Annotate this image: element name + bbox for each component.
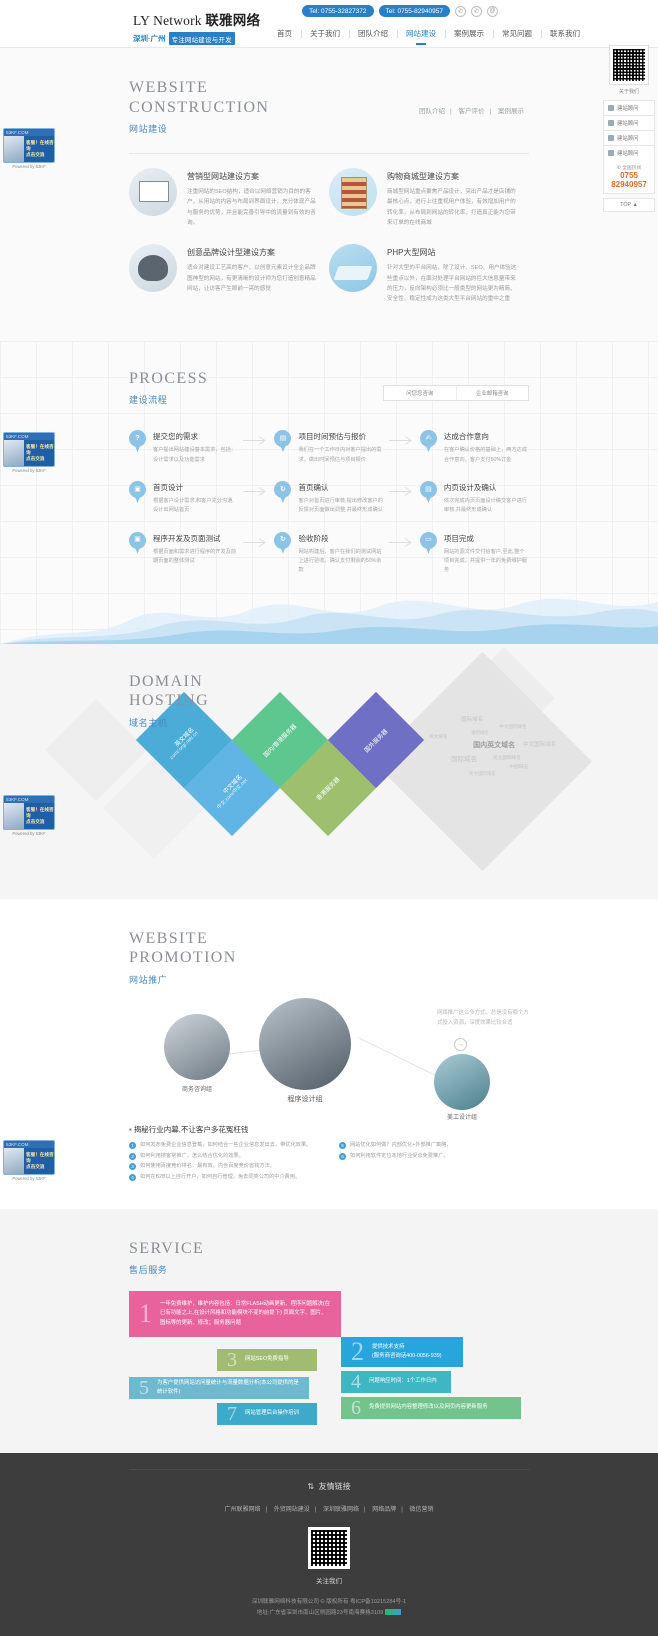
diamond-label: 香港服务器 bbox=[314, 774, 342, 802]
list-item: 1如何发布免费企业信息登载，如何结合一些企业信息发出去，带优化效果。 bbox=[129, 1142, 319, 1149]
nav-item-cases[interactable]: 案例展示 bbox=[445, 28, 493, 39]
step-desc: 我们在一个工作日内对客户提出的需求，做出时间预估与项目报价 bbox=[298, 446, 383, 465]
panel-item-label: 建站顾问 bbox=[617, 134, 639, 142]
nav-item-about[interactable]: 关于我们 bbox=[301, 28, 349, 39]
site-logo[interactable]: LY Network 联雅网络 深圳·广州 专注网站建设与开发 bbox=[133, 9, 273, 45]
nav-item-home[interactable]: 首页 bbox=[268, 28, 301, 39]
photo-programming bbox=[259, 998, 351, 1090]
section-website-construction: WEBSITE CONSTRUCTION 网站建设 团队介绍| 客户评价| 案例… bbox=[0, 48, 658, 341]
list-bullet: 5 bbox=[339, 1142, 346, 1149]
php-platform-icon bbox=[329, 244, 377, 292]
service-text: 提供技术支持 (服务商咨询话400-0056-939) bbox=[372, 1343, 442, 1362]
service-item-1[interactable]: 1 一年免费维护，维护内容包括：日常FLASH动画更新、程序问题解决(在已有功能… bbox=[129, 1291, 341, 1337]
service-item-3[interactable]: 3 网站SEO免费指导 bbox=[217, 1349, 317, 1371]
service-number: 5 bbox=[139, 1378, 149, 1398]
process-steps: ? 提交您的需求 客户提出网站建设基本需求，包括：设计需求以及功能需求 ▤ 项目… bbox=[129, 430, 529, 576]
chat-icon bbox=[608, 150, 614, 156]
logo-text: LY Network 联雅网络 bbox=[133, 9, 273, 29]
step-title: 项目时间预估与报价 bbox=[298, 431, 383, 442]
process-step: ? 提交您的需求 客户提出网站建设基本需求，包括：设计需求以及功能需求 bbox=[129, 430, 238, 465]
list-text: 如何利用搜客常推广，怎么结合优化的效果。 bbox=[140, 1153, 244, 1160]
footer-links-title-wrap: ⇅ 友情链接 bbox=[297, 1476, 360, 1494]
arrow-right-icon bbox=[384, 532, 420, 547]
footer-copyright: 深圳联雅网络科技有限公司 © 版权所有 粤ICP备10215284号-1 bbox=[0, 1597, 658, 1608]
service-item-6[interactable]: 6 免费提供网站内容整理修改以及网页内容更新服务 bbox=[341, 1397, 521, 1419]
footer-link-gz[interactable]: 广州联雅网络 bbox=[219, 1507, 265, 1513]
promotion-list-left: 1如何发布免费企业信息登载，如何结合一些企业信息发出去，带优化效果。 2如何利用… bbox=[129, 1142, 319, 1185]
wordcloud-main: 国内英文域名 bbox=[473, 740, 515, 750]
link-icon: ⇅ bbox=[307, 1482, 314, 1491]
arrow-right-icon bbox=[384, 481, 420, 496]
process-step: ▣ 程序开发及页面测试 根据页面和需求进行程序的开发及前期页面的整体测试 bbox=[129, 532, 238, 567]
chat-icon bbox=[608, 120, 614, 126]
service-number: 2 bbox=[351, 1339, 364, 1365]
list-text: 如何在B2B以上自行开户，如何自行管理，免去同类公司的中介费用。 bbox=[140, 1174, 300, 1181]
step-title: 验收阶段 bbox=[298, 533, 383, 544]
diamond-sublabel: 中文.com/中文.net bbox=[215, 776, 249, 810]
ad-powered-by: Powered by 53KF bbox=[3, 830, 55, 836]
service-item-2[interactable]: 2 提供技术支持 (服务商咨询话400-0056-939) bbox=[341, 1337, 463, 1367]
promotion-heading: WEBSITE PROMOTION 网站推广 bbox=[129, 929, 529, 986]
footer-address-line: 地址:广东省深圳市南山区桃园路23号南海赛格3109 bbox=[0, 1608, 658, 1619]
list-bullet: 2 bbox=[129, 1153, 136, 1160]
service-heading: SERVICE 售后服务 bbox=[129, 1239, 529, 1277]
panel-item-label: 建站顾问 bbox=[617, 149, 639, 157]
floating-ad-1[interactable]: 53KF.COM 客服！在线咨询 点击交流 Powered by 53KF bbox=[3, 128, 55, 169]
construction-card[interactable]: 营销型网站建设方案 注重网站的SEO结构，适合以网络营销为目的的客户，从用站的内… bbox=[129, 168, 329, 228]
service-item-5[interactable]: 5 为客户提供网站访问量统计与流量数据分析(本公司提供的是统计软件) bbox=[129, 1377, 309, 1399]
step-title: 项目完成 bbox=[444, 533, 529, 544]
card-desc: 针对大型的平台网站，除了设计、SEO、用户体验这些重点以外，在面对处理平台网站的… bbox=[387, 263, 521, 304]
diamond-hk-server[interactable]: 香港服务器 bbox=[280, 740, 376, 836]
service-text: 网站SEO免费指导 bbox=[245, 1355, 289, 1364]
avatar bbox=[4, 1148, 24, 1174]
photo-business-consult bbox=[164, 1014, 230, 1080]
footer-link-sz[interactable]: 深圳联雅网络 bbox=[318, 1507, 364, 1513]
palette-icon: ▣ bbox=[129, 481, 146, 503]
ad-line-1: 客服！在线咨询 bbox=[26, 444, 54, 456]
panel-hotline: ✆ 全国热线 0755 82940957 bbox=[603, 160, 655, 194]
photo-caption: 程序设计组 bbox=[260, 1094, 350, 1104]
nav-item-faq[interactable]: 常见问题 bbox=[493, 28, 541, 39]
construction-title-line1: WEBSITE bbox=[129, 78, 529, 98]
service-number: 7 bbox=[227, 1404, 237, 1424]
step-title: 提交您的需求 bbox=[153, 431, 238, 442]
card-title: 购物商城型建设方案 bbox=[387, 171, 521, 182]
beian-badge-icon bbox=[385, 1609, 401, 1615]
floating-ad-3[interactable]: 53KF.COM 客服！在线咨询 点击交流 Powered by 53KF bbox=[3, 795, 55, 836]
diamond-label: 中文域名 bbox=[214, 766, 249, 801]
service-text: 问题响应时间：1个工作日内 bbox=[369, 1377, 437, 1386]
footer-address: 地址:广东省深圳市南山区桃园路23号南海赛格3109 bbox=[257, 1610, 384, 1616]
card-title: 营销型网站建设方案 bbox=[187, 171, 321, 182]
question-mark-icon: ? bbox=[129, 430, 146, 452]
domain-subtitle: 域名主机 bbox=[129, 716, 529, 729]
step-desc: 网站构建后，客户在我们的测试网站上进行验收，确认支付剩余的50%余款 bbox=[298, 548, 383, 576]
weibo-icon[interactable]: @ bbox=[487, 6, 498, 17]
ad-powered-by: Powered by 53KF bbox=[3, 163, 55, 169]
logo-city: 深圳·广州 bbox=[133, 33, 166, 44]
list-bullet: 1 bbox=[129, 1142, 136, 1149]
section-process: PROCESS 建设流程 问您您咨询 企业邮箱咨询 ? 提交您的需求 客户提出网… bbox=[0, 341, 658, 644]
card-title: PHP大型网站 bbox=[387, 247, 521, 258]
photo-design bbox=[434, 1054, 490, 1110]
step-title: 达成合作意向 bbox=[444, 431, 529, 442]
ad-brand: 53KF.COM bbox=[4, 433, 54, 440]
step-title: 首页设计 bbox=[153, 482, 238, 493]
domain-heading: DOMAIN HOSTING 域名主机 bbox=[129, 672, 529, 729]
flag-icon: ▭ bbox=[420, 532, 437, 554]
construction-card[interactable]: 创意品牌设计型建设方案 适合对建设工艺高的客户，以创意元素设计全企品牌图神型的网… bbox=[129, 244, 329, 304]
phone-pill-2[interactable]: Tel: 0755-82940957 bbox=[379, 5, 450, 17]
section-website-promotion: WEBSITE PROMOTION 网站推广 商务咨询组 程序设计组 美工设计组… bbox=[0, 899, 658, 1209]
nav-item-construction[interactable]: 网站建设 bbox=[397, 28, 445, 39]
logo-text-cn: 联雅网络 bbox=[205, 13, 260, 28]
floating-ad-4[interactable]: 53KF.COM 客服！在线咨询 点击交流 Powered by 53KF bbox=[3, 1140, 55, 1181]
hotline-label: ✆ 全国热线 bbox=[608, 164, 650, 171]
logo-subtitle: 深圳·广州 专注网站建设与开发 bbox=[133, 32, 273, 45]
construction-subtitle: 网站建设 bbox=[129, 122, 529, 135]
header-contact: Tel: 0755-32827372 Tel: 0755-82940957 ✆ … bbox=[302, 5, 498, 17]
site-header: LY Network 联雅网络 深圳·广州 专注网站建设与开发 Tel: 075… bbox=[0, 0, 658, 48]
service-item-4[interactable]: 4 问题响应时间：1个工作日内 bbox=[341, 1371, 451, 1393]
promotion-list-right: 5网站优化如何做？内部优化+外部推广策略， 6如何利用软件定位本地行业受众免费推… bbox=[339, 1142, 529, 1185]
construction-card[interactable]: PHP大型网站 针对大型的平台网站，除了设计、SEO、用户体验这些重点以外，在面… bbox=[329, 244, 529, 304]
step-desc: 根据客户设计需求,和客户充分沟通,设计出网站首页 bbox=[153, 497, 238, 516]
ad-powered-by: Powered by 53KF bbox=[3, 467, 55, 473]
service-text: 为客户提供网站访问量统计与流量数据分析(本公司提供的是统计软件) bbox=[157, 1379, 299, 1398]
promotion-headline: 揭秘行业内幕,不让客户多花冤枉钱 bbox=[129, 1124, 529, 1135]
service-item-7[interactable]: 7 网站管理后台操作培训 bbox=[217, 1403, 317, 1425]
step-desc: 客户对首页进行审核,提出修改客户的反馈对页面做出调整,并最终形成确认 bbox=[298, 497, 383, 516]
process-step: ↻ 验收阶段 网站构建后，客户在我们的测试网站上进行验收，确认支付剩余的50%余… bbox=[274, 532, 383, 576]
panel-qr-caption: 关于我们 bbox=[603, 88, 655, 95]
process-row: ? 提交您的需求 客户提出网站建设基本需求，包括：设计需求以及功能需求 ▤ 项目… bbox=[129, 430, 529, 465]
chat-widget[interactable]: 问您您咨询 企业邮箱咨询 bbox=[383, 385, 529, 401]
floating-ad-2[interactable]: 53KF.COM 客服！在线咨询 点击交流 Powered by 53KF bbox=[3, 432, 55, 473]
service-subtitle: 售后服务 bbox=[129, 1263, 529, 1276]
process-step: ↻ 首页确认 客户对首页进行审核,提出修改客户的反馈对页面做出调整,并最终形成确… bbox=[274, 481, 383, 516]
list-text: 网站优化如何做？内部优化+外部推广策略， bbox=[350, 1142, 452, 1149]
list-item: 2如何利用搜客常推广，怎么结合优化的效果。 bbox=[129, 1153, 319, 1160]
list-bullet: 4 bbox=[129, 1174, 136, 1181]
card-title: 创意品牌设计型建设方案 bbox=[187, 247, 321, 258]
service-number: 1 bbox=[139, 1301, 152, 1327]
construction-quick-links: 团队介绍| 客户评价| 案例展示 bbox=[414, 105, 529, 115]
list-text: 如何使用百度竞价排名，最有效，内含百度竞价省钱方法。 bbox=[140, 1163, 275, 1170]
nav-item-team[interactable]: 团队介绍 bbox=[349, 28, 397, 39]
ad-brand: 53KF.COM bbox=[4, 796, 54, 803]
ad-powered-by: Powered by 53KF bbox=[3, 1175, 55, 1181]
wordcloud-word: 英文国际域名 bbox=[493, 755, 521, 761]
document-icon: ▤ bbox=[274, 430, 291, 452]
wordcloud-word: 国际域名 bbox=[451, 753, 477, 763]
arrow-right-icon bbox=[384, 430, 420, 445]
construction-card-grid: 营销型网站建设方案 注重网站的SEO结构，适合以网络营销为目的的客户，从用站的内… bbox=[129, 168, 529, 321]
process-step: ▣ 首页设计 根据客户设计需求,和客户充分沟通,设计出网站首页 bbox=[129, 481, 238, 516]
ad-line-2: 点击交流 bbox=[26, 456, 54, 462]
ad-line-1: 客服！在线咨询 bbox=[26, 140, 54, 152]
back-to-top-button[interactable]: TOP ▲ bbox=[603, 198, 655, 212]
card-desc: 注重网站的SEO结构，适合以网络营销为目的的客户，从用站的内容与布局到界面设计，… bbox=[187, 187, 321, 228]
wave-decoration bbox=[0, 586, 658, 644]
step-desc: 依次完成内页页面设计稿交客户进行审核,并最终形成确认 bbox=[444, 497, 529, 516]
wordcloud-word: 中文国际域名 bbox=[523, 740, 556, 748]
wordcloud-word: 英文域名 bbox=[429, 734, 447, 740]
promotion-lists: 1如何发布免费企业信息登载，如何结合一些企业信息发出去，带优化效果。 2如何利用… bbox=[129, 1142, 529, 1185]
promotion-photos: 商务咨询组 程序设计组 美工设计组 网络推广这么多方式，总是没有哪个方式投入资源… bbox=[129, 996, 529, 1116]
footer-qr-caption: 关注我们 bbox=[0, 1575, 658, 1585]
step-desc: 客户提出网站建设基本需求，包括：设计需求以及功能需求 bbox=[153, 446, 238, 465]
service-text: 一年免费维护，维护内容包括：日常FLASH动画更新、程序问题解决(在已有功能之上… bbox=[160, 1300, 331, 1328]
service-number: 6 bbox=[351, 1398, 361, 1418]
hotline-number-1: 0755 bbox=[608, 171, 650, 180]
photo-caption: 美工设计组 bbox=[417, 1112, 507, 1121]
list-item: 6如何利用软件定位本地行业受众免费推广。 bbox=[339, 1153, 529, 1160]
avatar bbox=[4, 136, 24, 162]
process-step: ✍ 达成合作意向 在客户确认价格的基础上，两方达成合作意向，客户支付50%订金 bbox=[420, 430, 529, 465]
brain-idea-icon bbox=[129, 244, 177, 292]
arrow-right-icon bbox=[238, 430, 274, 445]
step-title: 首页确认 bbox=[298, 482, 383, 493]
service-number: 3 bbox=[227, 1350, 237, 1370]
section-domain-hosting: 国内英文域名 国际域名 中文国内域名 英文域名 中文国际域名 国际域名 英文国际… bbox=[0, 644, 658, 899]
step-desc: 在客户确认价格的基础上，两方达成合作意向，客户支付50%订金 bbox=[444, 446, 529, 465]
ad-brand: 53KF.COM bbox=[4, 1141, 54, 1148]
diamond-label: 国外服务器 bbox=[362, 726, 390, 754]
logo-text-en: LY Network bbox=[133, 13, 202, 28]
wordcloud-word: 中国域名 bbox=[509, 763, 528, 770]
footer-link-brand[interactable]: 网络品牌 bbox=[367, 1507, 401, 1513]
code-icon: ▣ bbox=[129, 532, 146, 554]
list-text: 如何发布免费企业信息登载，如何结合一些企业信息发出去，带优化效果。 bbox=[140, 1142, 311, 1149]
panel-consultant-4[interactable]: 建站顾问 bbox=[603, 145, 655, 160]
list-text: 如何利用软件定位本地行业受众免费推广。 bbox=[350, 1153, 449, 1160]
service-number: 4 bbox=[351, 1372, 361, 1392]
quick-link-cases[interactable]: 案例展示 bbox=[493, 108, 529, 115]
ad-brand: 53KF.COM bbox=[4, 129, 54, 136]
diamond-sublabel: .com/.org/.net/.cn bbox=[168, 730, 200, 762]
hotline-number-2: 82940957 bbox=[608, 180, 650, 189]
service-title: SERVICE bbox=[129, 1239, 529, 1259]
wordcloud-word: 英文国际域名 bbox=[469, 771, 495, 777]
promotion-subtitle: 网站推广 bbox=[129, 973, 529, 986]
shopping-mall-icon bbox=[329, 168, 377, 216]
footer-copyright-block: 深圳联雅网络科技有限公司 © 版权所有 粤ICP备10215284号-1 地址:… bbox=[0, 1597, 658, 1618]
ad-line-2: 点击交流 bbox=[26, 819, 54, 825]
handshake-icon: ✍ bbox=[420, 430, 437, 452]
step-title: 内页设计及确认 bbox=[444, 482, 529, 493]
chat-consult-label[interactable]: 问您您咨询 bbox=[384, 386, 456, 400]
card-desc: 适合对建设工艺高的客户，以创意元素设计全企品牌图神型的网站，有更清晰的设计师为您… bbox=[187, 263, 321, 294]
domain-title-line2: HOSTING bbox=[129, 691, 529, 711]
section-service: SERVICE 售后服务 1 一年免费维护，维护内容包括：日常FLASH动画更新… bbox=[0, 1209, 658, 1453]
ad-line-2: 点击交流 bbox=[26, 1164, 54, 1170]
wordcloud-word: 通用域名 bbox=[471, 730, 489, 736]
chat-email-label[interactable]: 企业邮箱咨询 bbox=[456, 386, 529, 400]
divider bbox=[129, 153, 529, 154]
panel-item-label: 建站顾问 bbox=[617, 119, 639, 127]
decorative-diamond bbox=[103, 757, 205, 859]
list-bullet: 6 bbox=[339, 1153, 346, 1160]
arrow-right-icon[interactable]: → bbox=[454, 1038, 467, 1051]
panel-consultant-2[interactable]: 建站顾问 bbox=[603, 115, 655, 130]
ad-line-1: 客服！在线咨询 bbox=[26, 1152, 54, 1164]
step-title: 程序开发及页面测试 bbox=[153, 533, 238, 544]
ad-line-1: 客服！在线咨询 bbox=[26, 807, 54, 819]
panel-consultant-3[interactable]: 建站顾问 bbox=[603, 130, 655, 145]
process-step: ▤ 内页设计及确认 依次完成内页页面设计稿交客户进行审核,并最终形成确认 bbox=[420, 481, 529, 516]
promotion-note: 网络推广这么多方式，总是没有哪个方式投入资源，深度效果比较合适 bbox=[437, 1008, 529, 1029]
footer-link-foreign[interactable]: 外贸网站建设 bbox=[269, 1507, 315, 1513]
photo-caption: 商务咨询组 bbox=[152, 1084, 242, 1093]
divider bbox=[129, 1469, 529, 1470]
arrow-right-icon bbox=[238, 481, 274, 496]
list-item: 3如何使用百度竞价排名，最有效，内含百度竞价省钱方法。 bbox=[129, 1163, 319, 1170]
construction-card[interactable]: 购物商城型建设方案 商城型网站重点聚焦产品设计，突出产品才是店铺的最核心点，进行… bbox=[329, 168, 529, 228]
page-root: LY Network 联雅网络 深圳·广州 专注网站建设与开发 Tel: 075… bbox=[0, 0, 658, 1636]
monitor-icon bbox=[129, 168, 177, 216]
footer-links-title: 友情链接 bbox=[319, 1481, 351, 1492]
main-nav: 首页 关于我们 团队介绍 网站建设 案例展示 常见问题 联系我们 bbox=[268, 28, 589, 39]
nav-item-contact[interactable]: 联系我们 bbox=[541, 28, 589, 39]
list-bullet: 3 bbox=[129, 1163, 136, 1170]
step-desc: 网站的源文件交付给客户,至此,整个项目完成，并提供一年的免费维护服务 bbox=[444, 548, 529, 576]
domain-title-line1: DOMAIN bbox=[129, 672, 529, 692]
chat-icon bbox=[608, 135, 614, 141]
floating-side-panel: 关于我们 建站顾问 建站顾问 建站顾问 建站顾问 ✆ 全国热线 0755 829… bbox=[603, 45, 655, 212]
footer-links: 广州联雅网络| 外贸网站建设| 深圳联雅网络| 网络品牌| 微信营销 bbox=[0, 1504, 658, 1513]
quick-link-team[interactable]: 团队介绍 bbox=[414, 108, 450, 115]
panel-consultant-1[interactable]: 建站顾问 bbox=[603, 100, 655, 115]
pages-icon: ▤ bbox=[420, 481, 437, 503]
process-step: ▭ 项目完成 网站的源文件交付给客户,至此,整个项目完成，并提供一年的免费维护服… bbox=[420, 532, 529, 576]
refresh-icon: ↻ bbox=[274, 481, 291, 503]
avatar bbox=[4, 803, 24, 829]
process-row: ▣ 首页设计 根据客户设计需求,和客户充分沟通,设计出网站首页 ↻ 首页确认 bbox=[129, 481, 529, 516]
chat-icon bbox=[608, 105, 614, 111]
service-text: 免费提供网站内容整理修改以及网页内容更新服务 bbox=[369, 1403, 488, 1412]
quick-link-reviews[interactable]: 客户评价 bbox=[454, 108, 490, 115]
ad-line-2: 点击交流 bbox=[26, 152, 54, 158]
list-item: 4如何在B2B以上自行开户，如何自行管理，免去同类公司的中介费用。 bbox=[129, 1174, 319, 1181]
footer-qr-code bbox=[308, 1527, 350, 1569]
service-text: 网站管理后台操作培训 bbox=[245, 1409, 299, 1418]
site-footer: ⇅ 友情链接 广州联雅网络| 外贸网站建设| 深圳联雅网络| 网络品牌| 微信营… bbox=[0, 1453, 658, 1636]
process-step: ▤ 项目时间预估与报价 我们在一个工作日内对客户提出的需求，做出时间预估与项目报… bbox=[274, 430, 383, 465]
refresh-icon: ↻ bbox=[274, 532, 291, 554]
avatar bbox=[4, 440, 24, 466]
wechat-icon[interactable]: ✆ bbox=[471, 6, 482, 17]
phone-pill-1[interactable]: Tel: 0755-32827372 bbox=[302, 5, 373, 17]
footer-link-wechat[interactable]: 微信营销 bbox=[404, 1507, 438, 1513]
panel-item-label: 建站顾问 bbox=[617, 104, 639, 112]
panel-qr-code bbox=[609, 45, 649, 85]
diamond-chinese-domain[interactable]: 中文域名 中文.com/中文.net bbox=[184, 740, 280, 836]
arrow-right-icon bbox=[238, 532, 274, 547]
logo-tagline: 专注网站建设与开发 bbox=[169, 32, 235, 45]
card-desc: 商城型网站重点聚焦产品设计，突出产品才是店铺的最核心点，进行上往重视用户体验，有… bbox=[387, 187, 521, 228]
promotion-title-line2: PROMOTION bbox=[129, 948, 529, 968]
phone-icon[interactable]: ✆ bbox=[455, 6, 466, 17]
step-desc: 根据页面和需求进行程序的开发及前期页面的整体测试 bbox=[153, 548, 238, 567]
process-row: ▣ 程序开发及页面测试 根据页面和需求进行程序的开发及前期页面的整体测试 ↻ 验… bbox=[129, 532, 529, 576]
promotion-title-line1: WEBSITE bbox=[129, 929, 529, 949]
list-item: 5网站优化如何做？内部优化+外部推广策略， bbox=[339, 1142, 529, 1149]
